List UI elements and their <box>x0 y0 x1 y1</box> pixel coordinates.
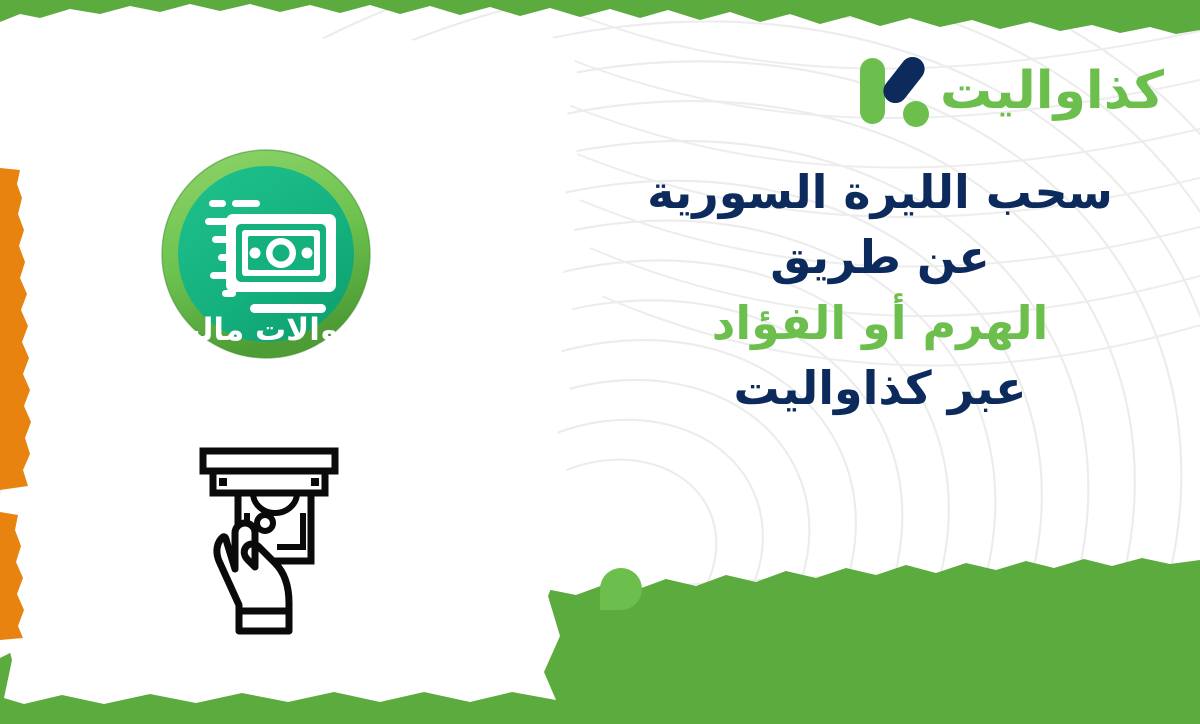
k-monogram-icon <box>858 52 932 130</box>
banner-canvas: حوالات مالية <box>0 0 1200 724</box>
brand-wordmark: كذاواليت <box>940 65 1164 117</box>
orange-torn-strip-large <box>0 168 34 490</box>
headline-block: سحب الليرة السورية عن طريق الهرم أو الفؤ… <box>600 160 1160 421</box>
green-leaf-droplet <box>600 568 642 610</box>
headline-line-4: عبر كذاواليت <box>600 356 1160 421</box>
orange-torn-strip-small <box>0 512 30 640</box>
brand-logo[interactable]: كذاواليت <box>858 52 1164 130</box>
headline-line-1: سحب الليرة السورية <box>600 160 1160 225</box>
money-transfer-badge: حوالات مالية <box>160 148 372 360</box>
green-torn-band-bottom <box>0 554 1200 724</box>
headline-line-2: عن طريق <box>600 225 1160 290</box>
atm-cash-withdrawal-hand-icon <box>193 443 345 639</box>
badge-label: حوالات مالية <box>170 312 361 348</box>
headline-line-3: الهرم أو الفؤاد <box>600 291 1160 356</box>
